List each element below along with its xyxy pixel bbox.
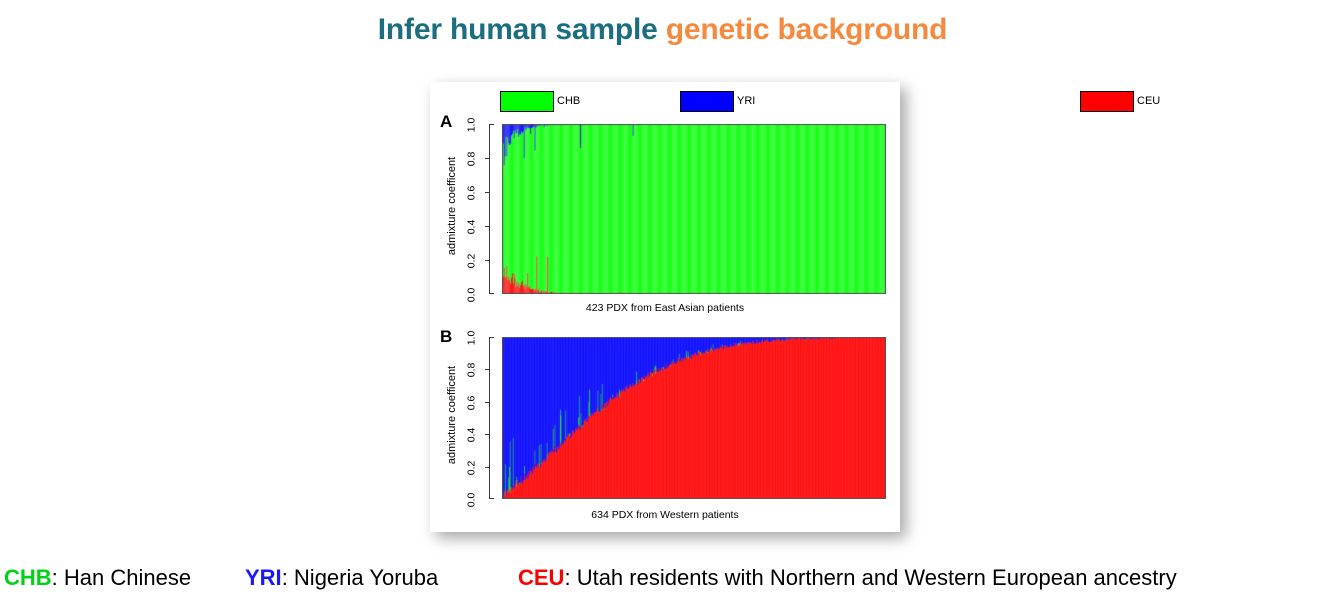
- legend-item-chb: CHB: [500, 90, 580, 112]
- y-tick-label: 1.0: [458, 332, 484, 342]
- caption-text-chb: Han Chinese: [64, 565, 191, 590]
- page-title: Infer human sample genetic background: [0, 13, 1325, 47]
- caption-entry-yri: YRI: Nigeria Yoruba: [245, 565, 438, 591]
- y-tick-label: 0.4: [458, 221, 484, 231]
- figure-card: CHB YRI CEU A admixture coefficent 1.00.…: [430, 82, 900, 532]
- y-axis-tick-mark: [485, 467, 489, 468]
- caption-entry-ceu: CEU: Utah residents with Northern and We…: [518, 565, 1177, 591]
- legend-swatch-yri: [680, 91, 734, 112]
- legend-label-yri: YRI: [737, 95, 755, 107]
- y-tick-label: 0.8: [458, 153, 484, 163]
- panel-b-y-tick-labels: 1.00.80.60.40.20.0: [458, 337, 484, 499]
- caption-code-chb: CHB: [4, 565, 52, 590]
- y-axis-cap: [489, 498, 494, 499]
- panel-b-plot-area: [502, 337, 886, 499]
- y-axis-cap: [489, 337, 494, 338]
- y-tick-label: 0.6: [458, 187, 484, 197]
- caption-sep-ceu: :: [564, 565, 576, 590]
- y-tick-label: 0.4: [458, 429, 484, 439]
- panel-b: B admixture coefficent 1.00.80.60.40.20.…: [430, 327, 900, 532]
- caption-text-ceu: Utah residents with Northern and Western…: [577, 565, 1177, 590]
- caption-code-ceu: CEU: [518, 565, 564, 590]
- panel-a-plot-area: [502, 124, 886, 294]
- legend-item-yri: YRI: [680, 90, 755, 112]
- panel-a-y-tick-labels: 1.00.80.60.40.20.0: [458, 124, 484, 294]
- legend-label-chb: CHB: [557, 95, 580, 107]
- legend-caption-row: CHB: Han Chinese YRI: Nigeria Yoruba CEU…: [0, 565, 1325, 599]
- page-title-segment-teal: Infer human sample: [378, 13, 666, 46]
- y-tick-label: 0.0: [458, 289, 484, 299]
- panel-a: A admixture coefficent 1.00.80.60.40.20.…: [430, 112, 900, 327]
- y-axis-line: [489, 337, 490, 499]
- y-tick-label: 0.2: [458, 462, 484, 472]
- y-axis-tick-mark: [485, 402, 489, 403]
- caption-entry-chb: CHB: Han Chinese: [4, 565, 191, 591]
- caption-sep-chb: :: [52, 565, 64, 590]
- y-axis-line: [489, 124, 490, 294]
- y-axis-tick-mark: [485, 158, 489, 159]
- y-axis-cap: [489, 124, 494, 125]
- y-tick-label: 0.2: [458, 255, 484, 265]
- y-axis-tick-mark: [485, 434, 489, 435]
- caption-sep-yri: :: [282, 565, 294, 590]
- caption-text-yri: Nigeria Yoruba: [294, 565, 438, 590]
- y-tick-label: 0.8: [458, 364, 484, 374]
- y-axis-tick-mark: [485, 369, 489, 370]
- panel-a-x-axis-caption: 423 PDX from East Asian patients: [430, 302, 900, 314]
- y-axis-tick-mark: [485, 192, 489, 193]
- panel-b-x-axis-caption: 634 PDX from Western patients: [430, 509, 900, 521]
- legend-swatch-chb: [500, 91, 554, 112]
- legend-swatch-ceu: [1080, 91, 1134, 112]
- caption-code-yri: YRI: [245, 565, 282, 590]
- legend-item-ceu: CEU: [1080, 90, 1160, 112]
- y-tick-label: 1.0: [458, 119, 484, 129]
- legend-label-ceu: CEU: [1137, 95, 1160, 107]
- page-title-segment-orange: genetic background: [666, 13, 947, 46]
- y-axis-tick-mark: [485, 260, 489, 261]
- y-tick-label: 0.0: [458, 494, 484, 504]
- y-axis-cap: [489, 293, 494, 294]
- y-tick-label: 0.6: [458, 397, 484, 407]
- y-axis-tick-mark: [485, 226, 489, 227]
- panel-b-y-axis-title: admixture coefficent: [446, 335, 458, 495]
- panel-a-y-axis-title: admixture coefficent: [446, 126, 458, 286]
